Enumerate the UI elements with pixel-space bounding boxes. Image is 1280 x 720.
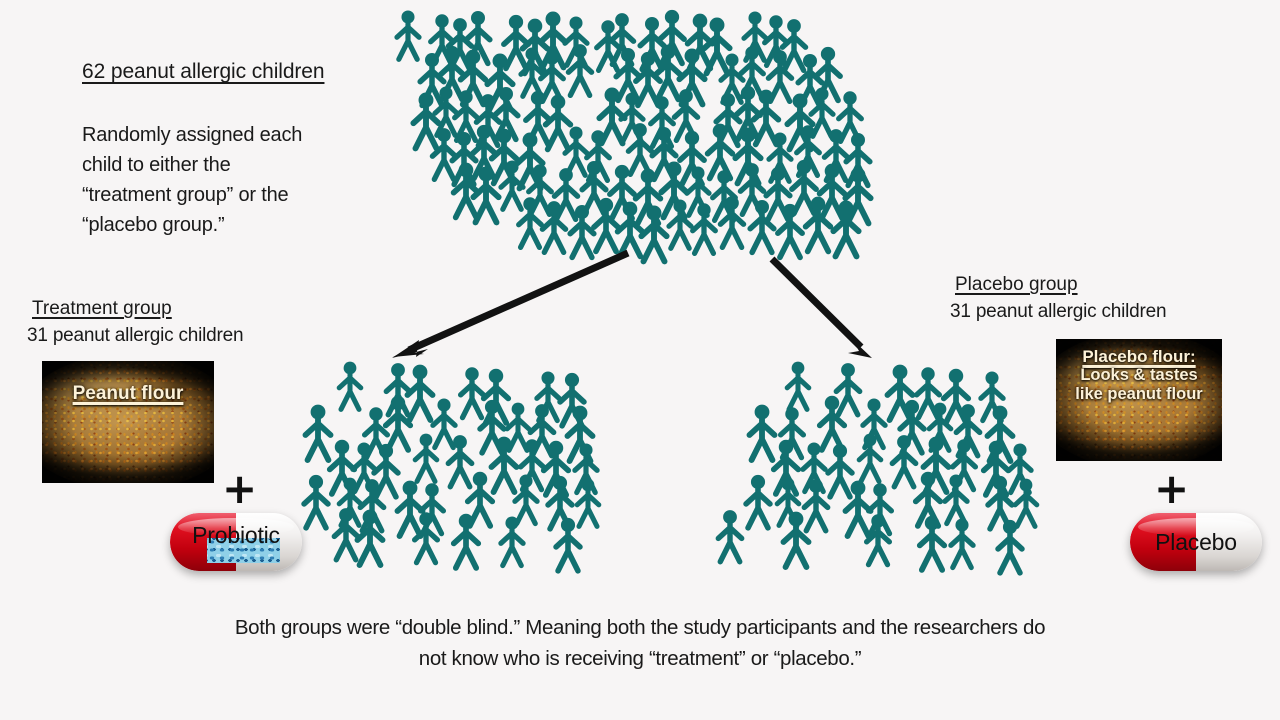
stick-figure — [920, 516, 944, 570]
peanut-flour-caption: Peanut flour — [42, 383, 214, 404]
stick-figure — [718, 510, 741, 562]
stick-figure — [951, 518, 973, 567]
placebo-group-title: Placebo group — [955, 274, 1078, 296]
crowd-placebo-group — [700, 350, 1040, 580]
stick-figure — [501, 516, 523, 565]
placebo-flour-caption-line3: like peanut flour — [1056, 385, 1222, 403]
stick-figure — [397, 481, 422, 536]
stick-figure — [304, 475, 328, 528]
stick-figure — [386, 396, 410, 450]
stick-figure — [749, 405, 774, 460]
placebo-flour-caption-line2: Looks & tastes — [1056, 366, 1222, 384]
stick-figure — [484, 369, 508, 423]
arrow-to-placebo-shaft — [772, 259, 861, 347]
stick-figure — [845, 481, 870, 536]
stick-figure — [783, 512, 808, 567]
stick-figure — [407, 365, 432, 420]
placebo-flour-caption: Placebo flour: Looks & tastes like peanu… — [1056, 347, 1222, 403]
plus-sign-placebo: + — [1154, 468, 1189, 510]
stick-figure — [556, 518, 580, 571]
stick-figure — [1015, 479, 1037, 527]
treatment-group-title: Treatment group — [32, 298, 172, 320]
slide-canvas: 62 peanut allergic children Randomly ass… — [0, 0, 1280, 720]
study-caption: Both groups were “double blind.” Meaning… — [0, 612, 1280, 674]
stick-figure — [515, 474, 537, 523]
stick-figure — [357, 510, 382, 565]
treatment-group-subtitle: 31 peanut allergic children — [27, 325, 243, 347]
stick-figure — [945, 474, 967, 523]
crowd-treatment-group — [280, 350, 610, 580]
placebo-capsule: Placebo — [1130, 513, 1262, 571]
stick-figure — [305, 405, 330, 460]
placebo-flour-photo: Placebo flour: Looks & tastes like peanu… — [1056, 339, 1222, 461]
arrow-to-treatment-shaft — [409, 253, 628, 350]
placebo-flour-caption-line1: Placebo flour: — [1056, 347, 1222, 366]
stick-figure — [433, 398, 455, 447]
stick-figure — [746, 475, 770, 528]
peanut-flour-photo: Peanut flour — [42, 361, 214, 483]
flour-vignette — [42, 361, 214, 483]
stick-figure — [836, 363, 859, 415]
placebo-group-subtitle: 31 peanut allergic children — [950, 301, 1166, 323]
stick-figure — [787, 362, 809, 410]
stick-figure — [461, 367, 484, 417]
stick-figure — [892, 435, 915, 487]
stick-figure — [828, 444, 852, 497]
plus-sign-treatment: + — [222, 468, 257, 510]
stick-figure — [415, 434, 437, 482]
stick-figure — [820, 396, 844, 450]
placebo-capsule-label: Placebo — [1130, 513, 1262, 571]
stick-figure — [339, 362, 361, 410]
